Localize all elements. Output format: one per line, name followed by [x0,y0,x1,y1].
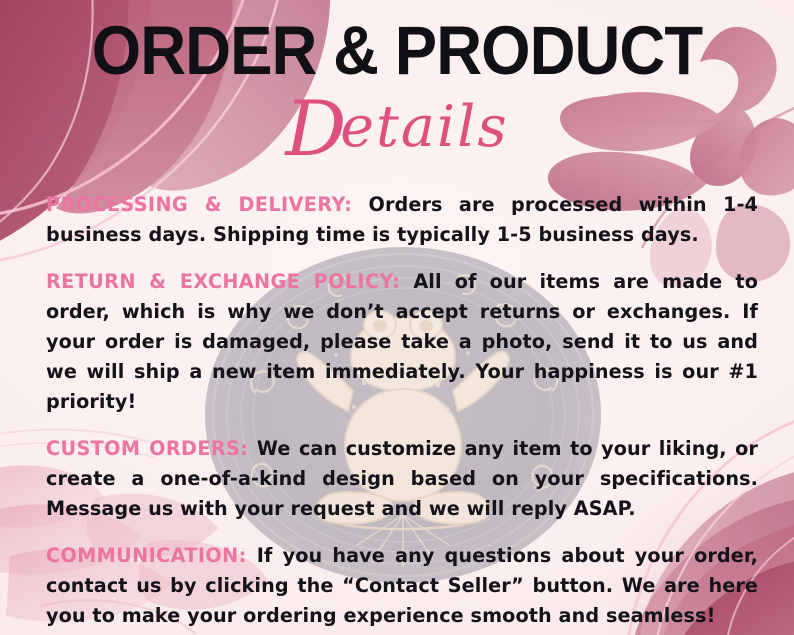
order-product-details-card: ORDER & PRODUCT Details PROCESSING & DEL… [0,0,794,635]
section-lead-processing-and-delivery: PROCESSING & DELIVERY: [46,193,352,216]
script-swash-letter: D [285,84,340,173]
section-lead-custom-orders: CUSTOM ORDERS: [46,437,248,460]
section-custom-orders: CUSTOM ORDERS: We can customize any item… [46,434,758,524]
section-lead-communication: COMMUNICATION: [46,544,247,567]
section-processing-and-delivery: PROCESSING & DELIVERY: Orders are proces… [46,190,758,250]
card-content: ORDER & PRODUCT Details PROCESSING & DEL… [0,0,794,635]
script-subtitle-rest: etails [340,94,508,160]
script-subtitle: Details [0,96,794,160]
page-title: ORDER & PRODUCT [32,14,762,88]
section-lead-return-and-exchange-policy: RETURN & EXCHANGE POLICY: [46,270,400,293]
section-communication: COMMUNICATION: If you have any questions… [46,541,758,631]
policy-sections: PROCESSING & DELIVERY: Orders are proces… [46,190,758,631]
section-return-and-exchange-policy: RETURN & EXCHANGE POLICY: All of our ite… [46,267,758,417]
